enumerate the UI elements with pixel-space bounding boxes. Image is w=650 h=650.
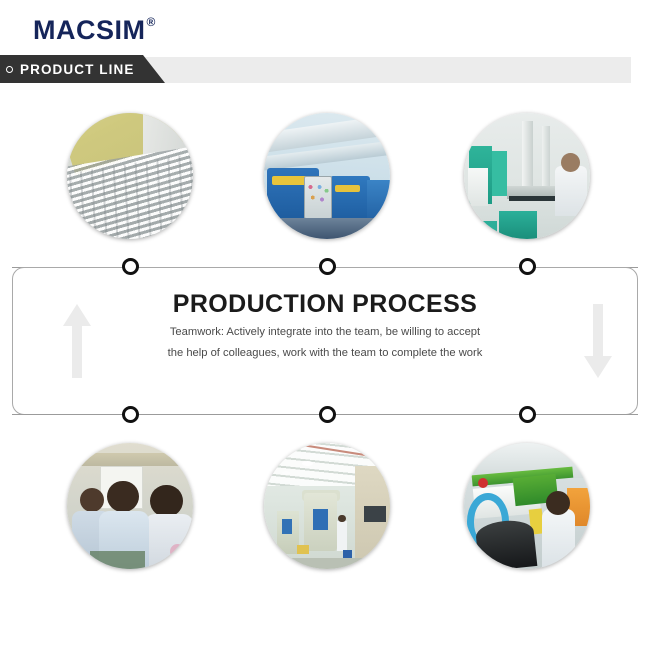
arrow-down-icon (583, 302, 613, 380)
photo-blue-press-brake-line[interactable] (264, 113, 390, 239)
scene-post-2 (542, 126, 550, 186)
scene-worker-body (542, 509, 575, 569)
scene-worker-head (561, 153, 580, 172)
scene-wall-cabinet (364, 506, 387, 522)
scene-worker-head (546, 491, 570, 515)
page-root: MACSIM® PRODUCT LINE (0, 0, 650, 650)
photo-scene (264, 113, 390, 239)
brand-logo: MACSIM® (33, 8, 155, 47)
scene-teal-column-2 (492, 151, 507, 196)
photo-scene (67, 443, 193, 569)
product-line-tab[interactable]: PRODUCT LINE (0, 55, 165, 83)
arrow-up-icon (62, 302, 92, 380)
scene-floor (264, 218, 390, 239)
production-process-description: Teamwork: Actively integrate into the te… (165, 322, 485, 364)
timeline-node-top-2[interactable] (319, 258, 336, 275)
scene-teal-base (499, 211, 537, 239)
timeline-node-bottom-2[interactable] (319, 406, 336, 423)
photo-scene (264, 443, 390, 569)
photo-scene (464, 443, 590, 569)
brand-logo-text: MACSIM (33, 15, 146, 45)
scene-yellow-parts (297, 545, 310, 554)
photo-scene (464, 113, 590, 239)
scene-green-parts (90, 551, 145, 569)
photo-metal-grating-conveyor[interactable] (67, 113, 193, 239)
scene-worker-body (555, 166, 588, 216)
scene-ceiling-lamp-1 (302, 461, 313, 466)
production-process-title: PRODUCTION PROCESS (0, 290, 650, 319)
circle-bullet-icon (6, 66, 13, 73)
scene-dark-coil (474, 518, 537, 569)
timeline-node-bottom-3[interactable] (519, 406, 536, 423)
photo-punch-press-workshop[interactable] (264, 443, 390, 569)
scene-control-buttons (307, 182, 330, 207)
scene-worker-head-3 (150, 485, 183, 518)
scene-punch-press-2-blue (282, 519, 292, 534)
scene-floor (264, 558, 390, 569)
registered-trademark-icon: ® (147, 15, 156, 29)
photo-scene (67, 113, 193, 239)
scene-teal-base-2 (469, 221, 497, 239)
scene-worker-head-2 (107, 481, 139, 513)
scene-yellow-label-b (335, 185, 360, 193)
scene-machine-c (367, 180, 390, 218)
scene-worker-body-3 (145, 514, 193, 569)
page-header: MACSIM® PRODUCT LINE (0, 0, 650, 92)
scene-punch-press-1-blue (313, 509, 328, 530)
timeline-node-top-1[interactable] (122, 258, 139, 275)
product-line-label: PRODUCT LINE (20, 62, 134, 77)
photo-worker-at-teal-machine[interactable] (464, 113, 590, 239)
scene-shelf (67, 453, 193, 466)
scene-dark-bar (509, 196, 559, 201)
scene-yellow-label-a (272, 176, 307, 185)
timeline-node-top-3[interactable] (519, 258, 536, 275)
photo-operator-at-coil-machine[interactable] (464, 443, 590, 569)
photo-workers-inspection-team[interactable] (67, 443, 193, 569)
scene-worker-body (337, 521, 347, 551)
scene-machine-b (330, 176, 370, 219)
scene-worker-head-1 (80, 488, 104, 512)
scene-white-sheet (468, 168, 488, 206)
timeline-node-bottom-1[interactable] (122, 406, 139, 423)
